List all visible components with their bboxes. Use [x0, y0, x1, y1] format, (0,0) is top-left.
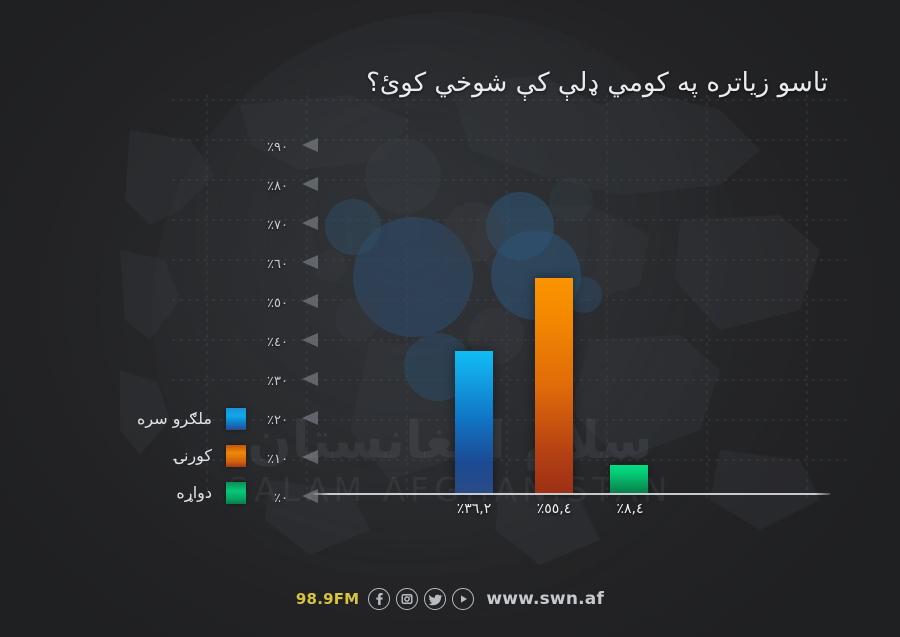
y-tick-label-40: ٤٠٪: [236, 336, 288, 349]
legend-swatch-family: [226, 445, 246, 467]
y-tick-label-50: ٥٠٪: [236, 297, 288, 310]
y-tick-label-90: ٩٠٪: [236, 141, 288, 154]
bar-value-friends: ٣٦,٢٪: [429, 502, 519, 516]
legend-item-both[interactable]: دواړه: [56, 474, 246, 511]
x-axis-baseline: [313, 493, 830, 495]
y-tick-label-60: ٦٠٪: [236, 258, 288, 271]
legend-label-friends: ملګرو سره: [137, 411, 212, 427]
youtube-icon[interactable]: [452, 588, 474, 610]
legend-item-family[interactable]: کورنۍ: [56, 437, 246, 474]
y-axis: ٩٠٪ ٨٠٪ ٧٠٪ ٦٠٪ ٥٠٪ ٤٠٪ ٣٠٪ ٢٠٪ ١٠٪ ٠٪: [238, 130, 318, 510]
chart-legend: ملګرو سره کورنۍ دواړه: [56, 400, 246, 511]
legend-item-friends[interactable]: ملګرو سره: [56, 400, 246, 437]
plot-area: [313, 145, 830, 494]
poster-canvas: سلام افغانستان SALAM AFGHANISTAN تاسو زی…: [0, 0, 900, 637]
legend-label-both: دواړه: [176, 485, 212, 501]
legend-swatch-both: [226, 482, 246, 504]
instagram-icon[interactable]: [396, 588, 418, 610]
page-title: تاسو زیاتره په کومي ډلې کې شوخي کوئ؟: [300, 66, 828, 101]
footer-bar: 98.9FM www.swn.af: [0, 588, 900, 610]
bar-both[interactable]: [610, 465, 648, 494]
legend-swatch-friends: [226, 408, 246, 430]
y-tick-label-80: ٨٠٪: [236, 180, 288, 193]
y-tick-label-70: ٧٠٪: [236, 219, 288, 232]
website-label: www.swn.af: [486, 589, 604, 609]
bar-value-both: ٨,٤٪: [585, 502, 675, 516]
twitter-icon[interactable]: [424, 588, 446, 610]
bar-family[interactable]: [535, 278, 573, 494]
bar-friends[interactable]: [455, 351, 493, 494]
facebook-icon[interactable]: [368, 588, 390, 610]
y-tick-label-30: ٣٠٪: [236, 375, 288, 388]
radio-frequency-label: 98.9FM: [296, 590, 359, 608]
legend-label-family: کورنۍ: [175, 448, 212, 464]
